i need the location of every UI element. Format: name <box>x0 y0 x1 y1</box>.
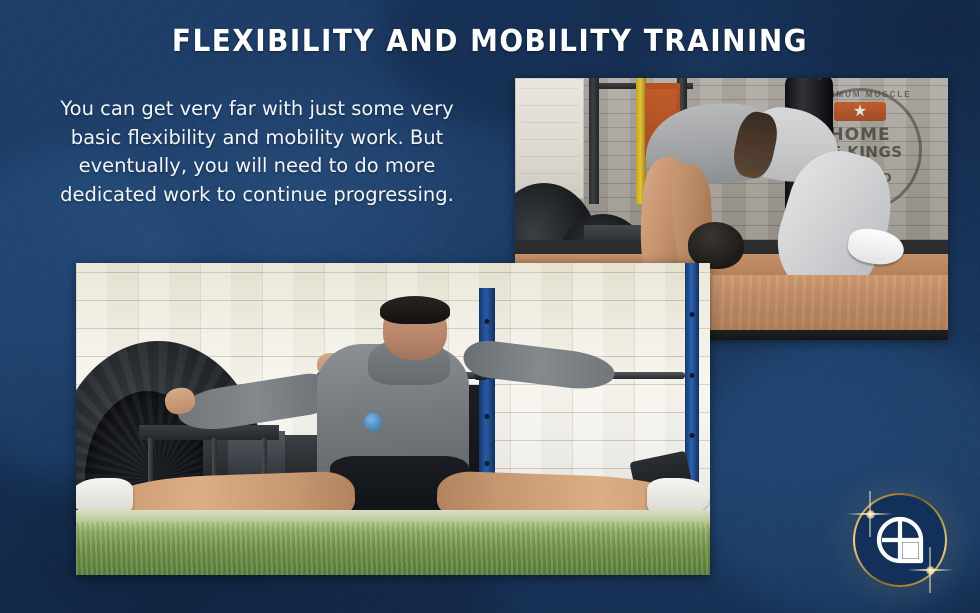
rack-hole <box>689 373 694 378</box>
rack-hole <box>484 461 489 466</box>
green-turf <box>76 522 710 575</box>
rack-hole <box>689 312 694 317</box>
badge-sparkle-core <box>926 566 935 575</box>
man-hair <box>380 296 450 324</box>
turf-edge <box>76 510 710 522</box>
photo-middle-splits <box>76 263 710 575</box>
rack-hole <box>689 433 694 438</box>
wall-decal-star-icon: ★ <box>834 102 886 121</box>
brand-logo-badge[interactable] <box>845 485 955 595</box>
rack-hole <box>484 414 489 419</box>
slide-body-text: You can get very far with just some very… <box>48 95 466 209</box>
badge-sparkle-core <box>866 510 875 519</box>
rack-hole <box>484 319 489 324</box>
slide-title: FLEXIBILITY AND MOBILITY TRAINING <box>34 24 945 59</box>
gym-rack-post-left <box>589 78 599 204</box>
gym-roller-door <box>515 78 584 199</box>
slide-canvas: FLEXIBILITY AND MOBILITY TRAINING You ca… <box>0 0 980 613</box>
